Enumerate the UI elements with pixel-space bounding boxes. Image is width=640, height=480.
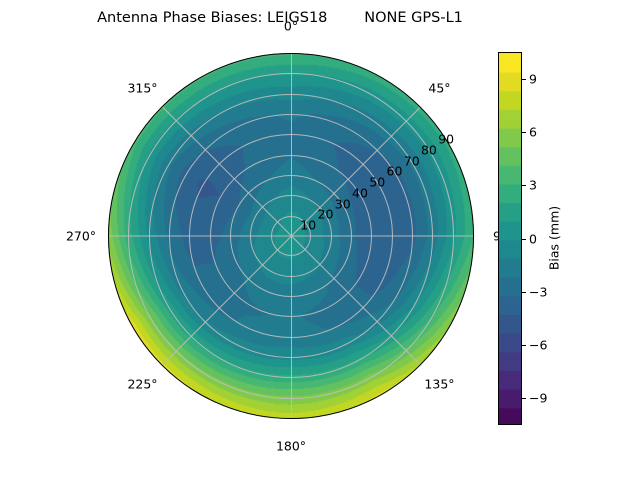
colorbar-tick-mark (522, 185, 526, 186)
colorbar-tick-label: −9 (529, 391, 547, 406)
radial-tick-label-40: 40 (352, 185, 368, 200)
colorbar-tick-label: 0 (529, 231, 537, 246)
colorbar-tick-mark (522, 79, 526, 80)
theta-tick-label-0: 0° (284, 19, 298, 34)
colorbar-tick-label: −3 (529, 284, 547, 299)
colorbar-tick-label: 3 (529, 178, 537, 193)
colorbar-tick-mark (522, 398, 526, 399)
radial-tick-label-90: 90 (438, 132, 454, 147)
theta-tick-label-180: 180° (276, 439, 306, 454)
radial-tick-label-80: 80 (421, 142, 437, 157)
colorbar-tick-label: −6 (529, 338, 547, 353)
colorbar-canvas (499, 53, 522, 425)
radial-tick-label-50: 50 (369, 175, 385, 190)
polar-heatmap-surface (108, 53, 474, 419)
colorbar-gradient (498, 52, 522, 425)
theta-tick-label-315: 315° (127, 80, 157, 95)
theta-tick-label-270: 270° (66, 229, 96, 244)
page-title: Antenna Phase Biases: LEIGS18 NONE GPS-L… (0, 10, 560, 26)
radial-tick-label-60: 60 (387, 164, 403, 179)
theta-tick-label-45: 45° (428, 80, 450, 95)
polar-heatmap-canvas (108, 53, 474, 419)
colorbar-tick-label: 6 (529, 124, 537, 139)
colorbar: 9630−3−6−9 (498, 52, 522, 425)
radial-tick-label-70: 70 (404, 153, 420, 168)
polar-figure: Antenna Phase Biases: LEIGS18 NONE GPS-L… (0, 0, 640, 480)
theta-tick-label-225: 225° (127, 377, 157, 392)
polar-axes (108, 53, 474, 419)
colorbar-tick-mark (522, 132, 526, 133)
radial-tick-label-30: 30 (335, 196, 351, 211)
radial-tick-label-20: 20 (318, 207, 334, 222)
radial-tick-label-10: 10 (300, 218, 316, 233)
theta-tick-label-135: 135° (424, 377, 454, 392)
colorbar-tick-mark (522, 239, 526, 240)
colorbar-tick-label: 9 (529, 71, 537, 86)
colorbar-axis-label: Bias (mm) (547, 206, 562, 270)
colorbar-tick-mark (522, 292, 526, 293)
colorbar-tick-mark (522, 345, 526, 346)
